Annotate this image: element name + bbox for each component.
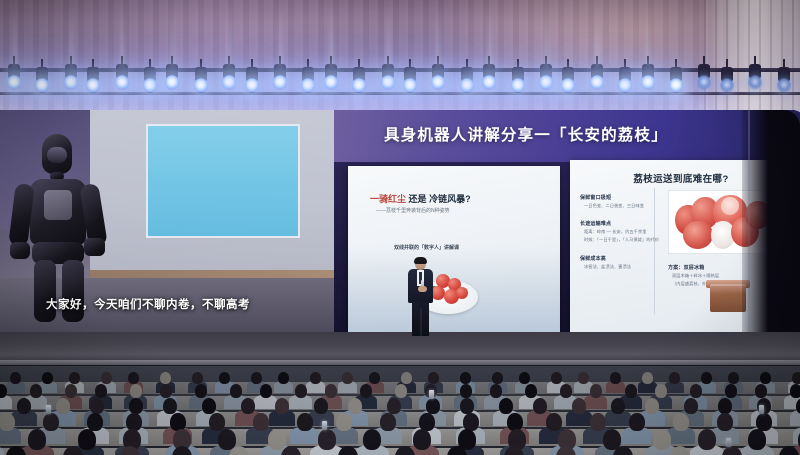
- audience-member-head: [701, 372, 712, 384]
- audience-member-head: [78, 429, 96, 450]
- audience-member-head: [380, 413, 396, 431]
- robot-leg-right: [62, 260, 84, 322]
- spotlight-lens: [273, 75, 287, 90]
- spotlight-lens: [697, 75, 711, 90]
- spotlight-lens: [561, 78, 575, 93]
- audience-member-head: [673, 413, 689, 431]
- audience-member-head: [318, 429, 336, 450]
- conference-photo: 大家好，今天咱们不聊内卷，不聊高考 具身机器人讲解分享一「长安的荔枝」 一骑红尘…: [0, 0, 800, 455]
- spotlight-lens: [641, 75, 655, 90]
- spotlight-lens: [669, 78, 683, 93]
- led-wall-bezel: [742, 110, 800, 338]
- spotlight-lens: [482, 75, 496, 90]
- light-beam: [488, 0, 491, 66]
- audience-member-head: [519, 372, 530, 384]
- audience-member-head: [578, 372, 589, 384]
- lychee-flesh: [721, 197, 739, 215]
- audience-member-head: [690, 384, 702, 398]
- audience-member-head: [251, 372, 262, 384]
- audience-member-head: [295, 384, 307, 398]
- slide-left-title: 一骑红尘 还是 冷链风暴?: [370, 192, 471, 205]
- audience-member-head: [645, 398, 659, 414]
- light-beam: [228, 0, 231, 66]
- audience-member-head: [725, 384, 737, 398]
- audience-phone: [322, 421, 327, 430]
- light-beam: [387, 0, 390, 66]
- audience-member-head: [202, 398, 216, 414]
- audience-member-head: [533, 398, 547, 414]
- audience-member-head: [560, 384, 572, 398]
- audience-member-head: [413, 429, 431, 450]
- robot-hand-right: [84, 238, 105, 256]
- slide-right-footer-body: 双层木箱＋碎冰＋隔热层: [672, 273, 719, 279]
- spotlight: [538, 64, 554, 98]
- spotlight-lens: [720, 78, 734, 93]
- audience-member-head: [718, 398, 732, 414]
- audience-member-head: [65, 384, 77, 398]
- slide-right-section-body: 时效：「一日千里」，「人马俱毙」的代价: [584, 237, 659, 243]
- audience-member-head: [268, 429, 286, 450]
- spotlight-lens: [381, 75, 395, 90]
- spotlight-lens: [245, 78, 259, 93]
- audience-member-head: [0, 413, 15, 431]
- spotlight: [142, 67, 158, 101]
- spotlight: [164, 64, 180, 98]
- audience-member-head: [342, 372, 353, 384]
- audience-phone: [429, 390, 434, 399]
- audience-member-head: [748, 429, 766, 450]
- spotlight: [640, 64, 656, 98]
- audience-member-head: [611, 398, 625, 414]
- feed-desk: [90, 270, 334, 278]
- audience-member-head: [28, 429, 46, 450]
- audience-member-head: [297, 413, 313, 431]
- audience-member-head: [129, 398, 143, 414]
- audience-member-head: [653, 429, 671, 450]
- audience-member-head: [128, 372, 139, 384]
- audience-phone: [46, 405, 51, 414]
- spotlight-lens: [301, 78, 315, 93]
- audience-member-head: [492, 372, 503, 384]
- spotlight: [402, 67, 418, 101]
- spotlight-lens: [165, 75, 179, 90]
- spotlight: [6, 64, 22, 98]
- light-beam: [70, 0, 73, 66]
- audience-member-head: [728, 372, 739, 384]
- light-beam: [13, 0, 16, 66]
- audience-member-head: [195, 384, 207, 398]
- audience-phone: [726, 438, 731, 447]
- session-title-band: 具身机器人讲解分享一「长安的荔枝」: [334, 110, 800, 162]
- bezel-edge-highlight: [748, 110, 750, 338]
- light-beam: [121, 0, 124, 66]
- audience-member-head: [684, 398, 698, 414]
- audience-member-head: [760, 372, 771, 384]
- spotlight: [719, 67, 735, 101]
- robot-chest-plate: [44, 190, 72, 220]
- spotlight-lens: [143, 78, 157, 93]
- audience-member-head: [790, 384, 800, 398]
- slide-right-section-heading: 长途运输难点: [580, 220, 611, 227]
- audience-member-shoulders: [0, 445, 4, 455]
- slide-right-section-body: 冰窖法、盐渍法、蜜渍法: [584, 264, 631, 270]
- slide-right-section-heading: 保鲜窗口极短: [580, 194, 611, 201]
- audience-member-head: [401, 372, 412, 384]
- spotlight: [85, 67, 101, 101]
- robot-leg-left: [34, 260, 56, 322]
- audience-member-head: [56, 398, 70, 414]
- audience-member-head: [130, 384, 142, 398]
- spotlight: [430, 64, 446, 98]
- spotlight: [34, 67, 50, 101]
- audience-area: [0, 366, 800, 455]
- spotlight-lens: [222, 75, 236, 90]
- light-beam: [171, 0, 174, 66]
- slide-right-section-heading: 保鲜成本高: [580, 255, 606, 262]
- spotlight: [459, 67, 475, 101]
- audience-member-head: [253, 413, 269, 431]
- spotlight-lens: [7, 75, 21, 90]
- spotlight: [747, 64, 763, 98]
- lighting-truss: [0, 62, 800, 108]
- audience-member-head: [160, 372, 171, 384]
- spotlight-lens: [511, 78, 525, 93]
- spotlight: [244, 67, 260, 101]
- audience-member-head: [90, 398, 104, 414]
- audience-member-head: [163, 398, 177, 414]
- robot-visor: [47, 147, 67, 163]
- audience-member-head: [551, 372, 562, 384]
- presenter-hand: [418, 286, 427, 292]
- audience-member-head: [625, 384, 637, 398]
- light-beam: [330, 0, 333, 66]
- audience-member-head: [314, 398, 328, 414]
- spotlight: [272, 64, 288, 98]
- audience-member-head: [387, 398, 401, 414]
- audience-member-head: [209, 413, 225, 431]
- spotlight: [776, 67, 792, 101]
- audience-member-head: [490, 384, 502, 398]
- audience-member-head: [241, 398, 255, 414]
- presenter-leg-gap: [420, 308, 422, 336]
- spotlight-lens: [194, 78, 208, 93]
- lychee-whole: [683, 221, 713, 249]
- audience-member-head: [275, 398, 289, 414]
- audience-member-head: [590, 413, 606, 431]
- audience-member-head: [460, 384, 472, 398]
- feed-monitor: [146, 124, 300, 238]
- audience-member-head: [363, 429, 381, 450]
- audience-member-head: [278, 372, 289, 384]
- audience-member-head: [669, 372, 680, 384]
- slide-right-divider: [654, 188, 655, 314]
- audience-member-head: [17, 398, 31, 414]
- audience-member-head: [755, 384, 767, 398]
- presenter: [404, 258, 436, 336]
- light-beam: [279, 0, 282, 66]
- spotlight-lens: [403, 78, 417, 93]
- audience-member-head: [369, 372, 380, 384]
- light-beam: [545, 0, 548, 66]
- audience-member-head: [460, 372, 471, 384]
- audience-member-head: [572, 398, 586, 414]
- light-beam: [437, 0, 440, 66]
- wooden-crate: [710, 284, 746, 312]
- light-beam: [596, 0, 599, 66]
- audience-member-head: [655, 384, 667, 398]
- spotlight-lens: [86, 78, 100, 93]
- spotlight: [300, 67, 316, 101]
- spotlight-lens: [539, 75, 553, 90]
- spotlight-lens: [777, 78, 791, 93]
- audience-member-head: [460, 398, 474, 414]
- spotlight-lens: [352, 78, 366, 93]
- spotlight-lens: [35, 78, 49, 93]
- audience-member-head: [629, 413, 645, 431]
- spotlight: [510, 67, 526, 101]
- slide-right-section-body: 距离：岭南 — 长安，约五千余里: [584, 229, 647, 235]
- spotlight: [351, 67, 367, 101]
- audience-member-head: [42, 372, 53, 384]
- audience-member-head: [325, 384, 337, 398]
- audience-member-head: [360, 384, 372, 398]
- slide-left-subtitle: ——荔枝千里奔袭背后的N种姿势: [376, 207, 450, 214]
- spotlight: [221, 64, 237, 98]
- spotlight-lens: [115, 75, 129, 90]
- spotlight: [560, 67, 576, 101]
- audience-member-head: [310, 372, 321, 384]
- subtitle-caption: 大家好，今天咱们不聊内卷，不聊高考: [46, 296, 250, 312]
- slide-right-section-body: 一日色变、二日香变、三日味变: [584, 203, 644, 209]
- audience-member-head: [219, 372, 230, 384]
- spotlight-lens: [431, 75, 445, 90]
- audience-phone: [759, 405, 764, 414]
- spotlight: [193, 67, 209, 101]
- lychee-fruit: [456, 287, 468, 299]
- presenter-hair: [414, 257, 427, 264]
- audience-member-head: [590, 384, 602, 398]
- audience-member-head: [336, 413, 352, 431]
- audience-member-head: [43, 413, 59, 431]
- slide-left: 一骑红尘 还是 冷链风暴? ——荔枝千里奔袭背后的N种姿势 双线并联的「数字人」…: [348, 166, 560, 332]
- audience-member-head: [160, 384, 172, 398]
- slide-left-midline: 双线并联的「数字人」讲解课: [394, 244, 459, 251]
- spotlight: [63, 64, 79, 98]
- audience-member-head: [717, 413, 733, 431]
- audience-member-head: [426, 398, 440, 414]
- spotlight-lens: [64, 75, 78, 90]
- spotlight-lens: [618, 78, 632, 93]
- audience-member-head: [395, 384, 407, 398]
- spotlight: [481, 64, 497, 98]
- spotlight-lens: [748, 75, 762, 90]
- spotlight: [589, 64, 605, 98]
- audience-member-head: [348, 398, 362, 414]
- audience-member-head: [546, 413, 562, 431]
- audience-member-head: [260, 384, 272, 398]
- audience-member-head: [30, 384, 42, 398]
- audience-member-head: [642, 372, 653, 384]
- spotlight: [668, 67, 684, 101]
- audience-member-head: [428, 372, 439, 384]
- audience-member-head: [69, 372, 80, 384]
- spotlight: [380, 64, 396, 98]
- audience-member-head: [230, 384, 242, 398]
- live-feed-panel: 大家好，今天咱们不聊内卷，不聊高考: [0, 110, 334, 338]
- spotlight: [323, 64, 339, 98]
- spotlight: [114, 64, 130, 98]
- audience-member-head: [796, 398, 800, 414]
- spotlight: [617, 67, 633, 101]
- audience-member-head: [95, 384, 107, 398]
- audience-member-head: [101, 372, 112, 384]
- spotlight-lens: [590, 75, 604, 90]
- audience-member-head: [192, 372, 203, 384]
- audience-member-head: [525, 384, 537, 398]
- robot-hand-left: [10, 242, 30, 259]
- session-title: 具身机器人讲解分享一「长安的荔枝」: [384, 123, 668, 145]
- audience-member-head: [792, 372, 800, 384]
- audience-member-head: [698, 429, 716, 450]
- audience-member-head: [499, 398, 513, 414]
- slide-left-title-c: 冷链风暴?: [429, 194, 471, 204]
- spotlight-lens: [460, 78, 474, 93]
- light-beam: [647, 0, 650, 66]
- spotlight: [696, 64, 712, 98]
- slide-left-title-a: 一骑红尘: [370, 194, 406, 204]
- slide-left-title-b: 还是: [409, 194, 427, 204]
- audience-member-head: [610, 372, 621, 384]
- spotlight-lens: [324, 75, 338, 90]
- slide-right-footer-heading: 方案：双层冰箱: [668, 264, 704, 271]
- audience-member-head: [87, 413, 103, 431]
- audience-member-head: [10, 372, 21, 384]
- led-video-wall: 大家好，今天咱们不聊内卷，不聊高考 具身机器人讲解分享一「长安的荔枝」 一骑红尘…: [0, 110, 800, 338]
